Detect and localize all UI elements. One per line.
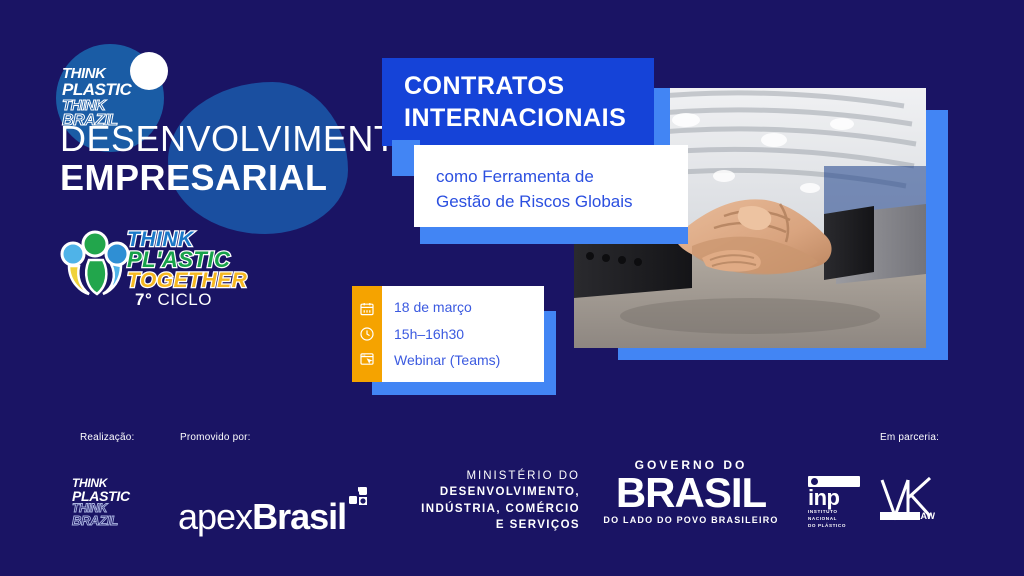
apex-logo-light: apex xyxy=(178,496,252,537)
inp-logo: inp INSTITUTO NACIONAL DO PLÁSTICO xyxy=(808,476,860,530)
ministry-logo: MINISTÉRIO DO DESENVOLVIMENTO, INDÚSTRIA… xyxy=(388,468,580,533)
vk-law-logo: LAW xyxy=(878,474,940,524)
cycle-label: 7° CICLO xyxy=(135,290,212,310)
event-subtitle-line2: Gestão de Riscos Globais xyxy=(436,190,674,215)
headline-line1: DESENVOLVIMENTO xyxy=(60,120,424,158)
event-title-line1: CONTRATOS xyxy=(404,70,654,102)
think-plastic-together-logo: THINK PL'ASTIC TOGETHER 7° CICLO xyxy=(55,228,270,320)
label-realizacao: Realização: xyxy=(80,432,134,443)
ministry-line1: MINISTÉRIO DO xyxy=(388,468,580,484)
subtitle-accent-bar-bottom xyxy=(420,224,688,244)
footer-tpb-line4: BRAZIL xyxy=(72,515,156,528)
tpb-logo-line3: THINK xyxy=(62,98,158,113)
gov-line3: DO LADO DO POVO BRASILEIRO xyxy=(598,515,784,525)
tpb-logo-line1: THINK xyxy=(62,66,158,81)
event-details-icon-strip xyxy=(352,286,382,382)
event-format: Webinar (Teams) xyxy=(394,352,544,369)
cycle-word: CICLO xyxy=(158,290,212,309)
apex-pinwheel-icon xyxy=(348,473,368,515)
inp-wordmark: inp xyxy=(808,488,860,509)
label-em-parceria: Em parceria: xyxy=(880,432,939,443)
headline-line2: EMPRESARIAL xyxy=(60,158,424,198)
label-promovido-por: Promovido por: xyxy=(180,432,251,443)
event-details-rows: 18 de março 15h–16h30 Webinar (Teams) xyxy=(382,286,544,382)
ministry-line2: DESENVOLVIMENTO, xyxy=(388,484,580,500)
event-subtitle-line1: como Ferramenta de xyxy=(436,165,674,190)
event-subtitle-block: como Ferramenta de Gestão de Riscos Glob… xyxy=(414,145,688,227)
event-time: 15h–16h30 xyxy=(394,326,544,343)
inp-sub-line1: INSTITUTO xyxy=(808,509,860,516)
inp-sub-line2: NACIONAL xyxy=(808,516,860,523)
page-title: DESENVOLVIMENTO EMPRESARIAL xyxy=(60,120,424,197)
tpt-word-together: TOGETHER xyxy=(127,271,247,291)
webinar-window-icon xyxy=(359,351,375,367)
event-title-block: CONTRATOS INTERNACIONAIS xyxy=(382,58,654,146)
poster-canvas: THINK PLASTIC THINK BRAZIL DESENVOLVIMEN… xyxy=(0,0,1024,576)
governo-do-brasil-logo: GOVERNO DO BRASIL DO LADO DO POVO BRASIL… xyxy=(598,458,784,525)
apex-brasil-logo: apexBrasil xyxy=(178,483,368,538)
calendar-icon xyxy=(359,301,375,317)
footer-think-plastic-think-brazil-logo: THINK PLASTIC THINK BRAZIL xyxy=(72,478,156,528)
event-date: 18 de março xyxy=(394,299,544,316)
event-details-box: 18 de março 15h–16h30 Webinar (Teams) xyxy=(352,286,544,382)
clock-icon xyxy=(359,326,375,342)
tpt-wordmark: THINK PL'ASTIC TOGETHER xyxy=(127,230,247,291)
inp-sub-line3: DO PLÁSTICO xyxy=(808,523,860,530)
ministry-line3: INDÚSTRIA, COMÉRCIO xyxy=(388,501,580,517)
event-title-line2: INTERNACIONAIS xyxy=(404,102,654,134)
apex-logo-bold: Brasil xyxy=(252,496,346,537)
vk-law-word: LAW xyxy=(915,511,936,521)
tpt-word-plastic: PL'ASTIC xyxy=(127,250,247,271)
ministry-line4: E SERVIÇOS xyxy=(388,517,580,533)
cycle-number: 7° xyxy=(135,290,152,309)
tpt-people-mark-icon xyxy=(55,230,133,296)
tpb-logo-line2: PLASTIC xyxy=(62,81,158,98)
inp-bar-icon xyxy=(808,476,860,487)
gov-line2: BRASIL xyxy=(598,472,784,515)
